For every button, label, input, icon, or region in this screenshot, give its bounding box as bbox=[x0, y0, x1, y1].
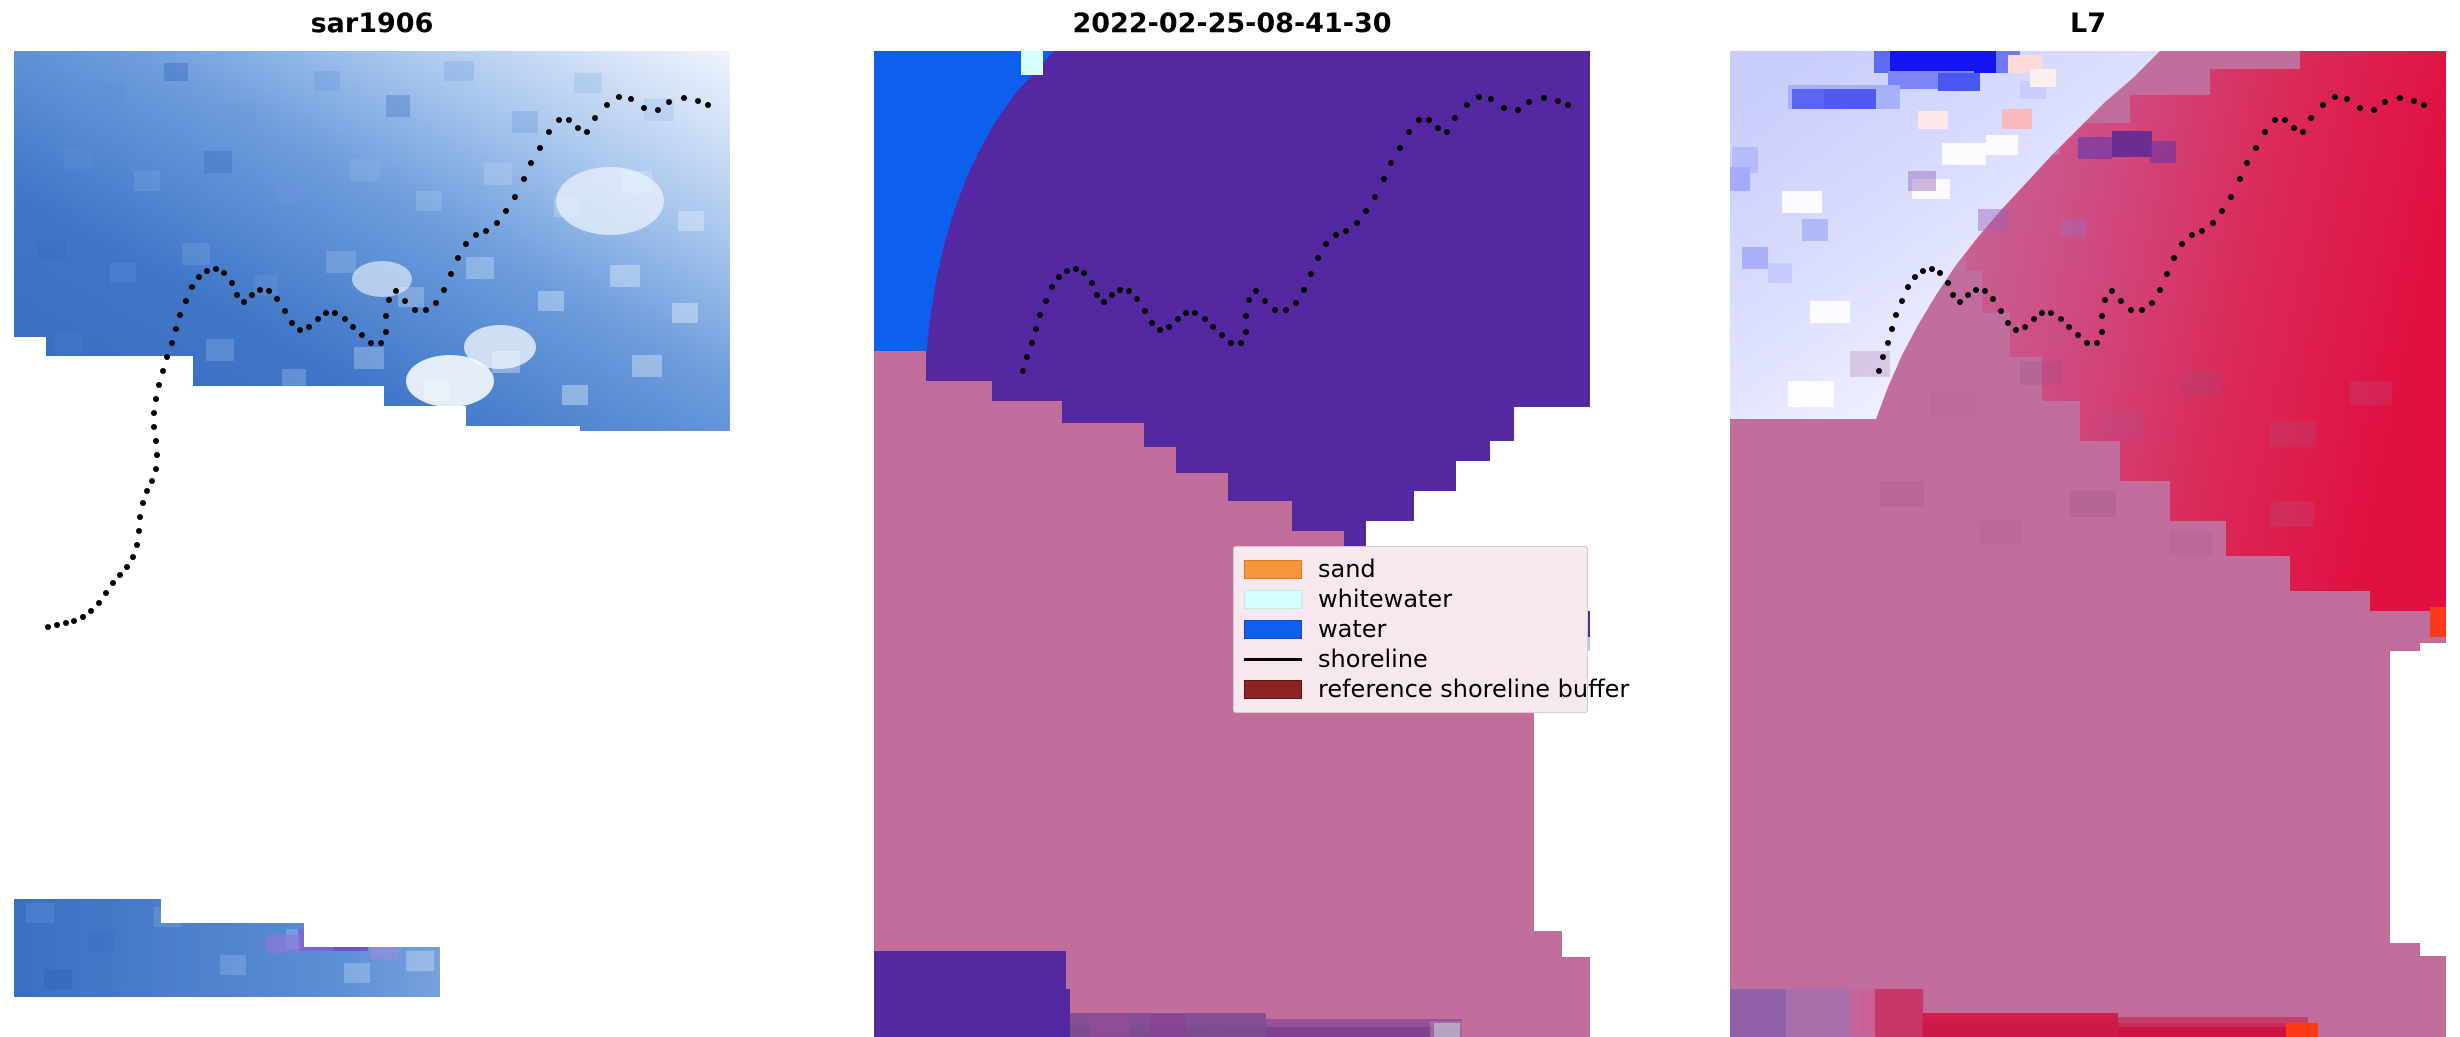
sar-bottom-strip bbox=[14, 891, 730, 1001]
legend-item-sand: sand bbox=[1244, 554, 1577, 584]
legend-item-whitewater: whitewater bbox=[1244, 584, 1577, 614]
legend: sand whitewater water shoreline referenc… bbox=[1233, 546, 1588, 713]
legend-label-reference-shoreline-buffer: reference shoreline buffer bbox=[1318, 677, 1629, 701]
shoreline-line-sample bbox=[1244, 650, 1302, 669]
sar-raster bbox=[14, 51, 730, 1037]
bottom-left-water-block2 bbox=[874, 951, 1066, 991]
reference-shoreline-buffer-swatch bbox=[1244, 680, 1302, 699]
axes-classified[interactable] bbox=[874, 51, 1590, 1037]
l7-raster bbox=[1730, 51, 2446, 1037]
legend-label-whitewater: whitewater bbox=[1318, 587, 1452, 611]
classified-raster bbox=[874, 51, 1590, 1037]
axes-l7[interactable] bbox=[1730, 51, 2446, 1037]
sar-main-block bbox=[14, 51, 730, 451]
l7-body bbox=[1730, 51, 2446, 1037]
legend-label-water: water bbox=[1318, 617, 1386, 641]
sand-swatch bbox=[1244, 560, 1302, 579]
panel-title-sar1906: sar1906 bbox=[14, 4, 730, 44]
panel-classified: 2022-02-25-08-41-30 bbox=[874, 0, 1590, 1037]
legend-item-water: water bbox=[1244, 614, 1577, 644]
water-swatch bbox=[1244, 620, 1302, 639]
whitewater-cell bbox=[1021, 51, 1043, 75]
whitewater-swatch bbox=[1244, 590, 1302, 609]
l7-right-edge-cell bbox=[2430, 607, 2446, 637]
panel-sar1906: sar1906 bbox=[14, 0, 730, 1037]
legend-label-shoreline: shoreline bbox=[1318, 647, 1428, 671]
legend-item-reference-shoreline-buffer: reference shoreline buffer bbox=[1244, 674, 1577, 704]
panel-title-l7: L7 bbox=[1730, 4, 2446, 44]
panel-l7: L7 bbox=[1730, 0, 2446, 1037]
matplotlib-figure: sar1906 bbox=[0, 0, 2460, 1037]
panel-title-classified: 2022-02-25-08-41-30 bbox=[874, 4, 1590, 44]
legend-item-shoreline: shoreline bbox=[1244, 644, 1577, 674]
axes-sar1906[interactable] bbox=[14, 51, 730, 1037]
legend-label-sand: sand bbox=[1318, 557, 1376, 581]
classified-body bbox=[874, 51, 1590, 1037]
